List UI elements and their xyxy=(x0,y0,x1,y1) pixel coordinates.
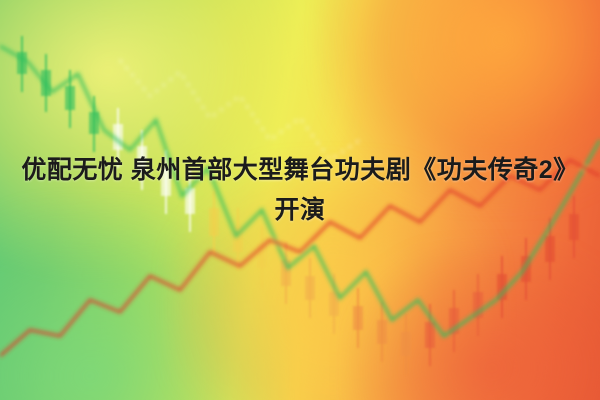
image-canvas: 优配无忧 泉州首部大型舞台功夫剧《功夫传奇2》开演 xyxy=(0,0,600,400)
page-title: 优配无忧 泉州首部大型舞台功夫剧《功夫传奇2》开演 xyxy=(0,150,600,230)
